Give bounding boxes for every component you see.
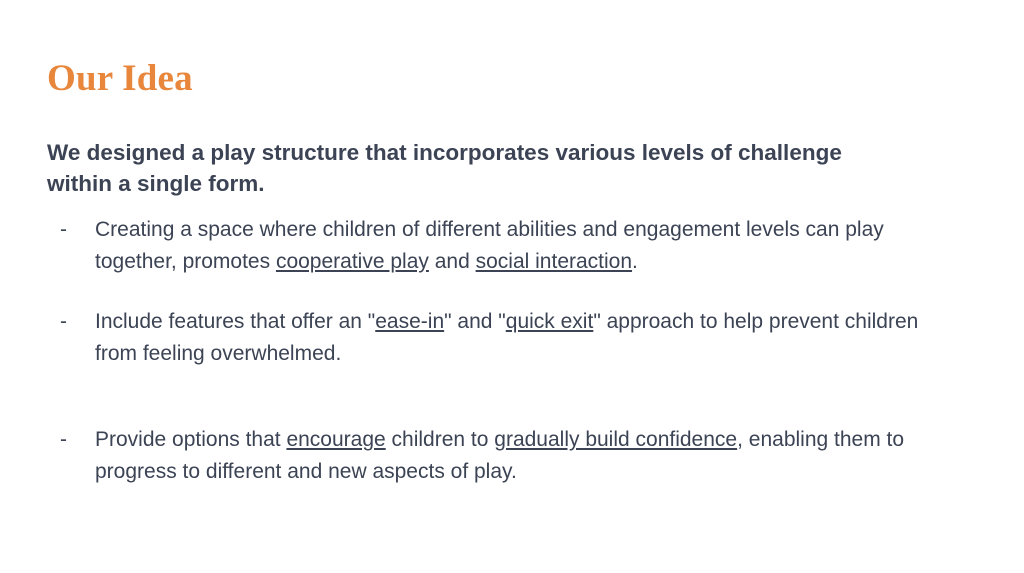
bullet-text-run: Include features that offer an " <box>95 310 375 333</box>
bullet-dash-icon: - <box>47 424 95 456</box>
bullet-text-run: " and " <box>444 310 506 333</box>
bullet-ease-in-quick-exit: Include features that offer an "ease-in"… <box>95 306 940 369</box>
bullet-text-run: and <box>429 250 476 273</box>
page-title: Our Idea <box>47 57 193 101</box>
bullet-list: -Creating a space where children of diff… <box>47 214 967 487</box>
emphasis-underlined-text: gradually build confidence <box>494 428 737 451</box>
emphasis-underlined-text: social interaction <box>476 250 632 273</box>
emphasis-underlined-text: ease-in <box>375 310 444 333</box>
bullet-text-run: children to <box>386 428 495 451</box>
list-item: -Creating a space where children of diff… <box>47 214 967 277</box>
emphasis-underlined-text: quick exit <box>506 310 594 333</box>
slide-canvas: Our Idea We designed a play structure th… <box>0 0 1024 573</box>
bullet-text-run: . <box>632 250 638 273</box>
bullet-cooperative-play: Creating a space where children of diffe… <box>95 214 940 277</box>
bullet-build-confidence: Provide options that encourage children … <box>95 424 940 487</box>
bullet-text-run: Provide options that <box>95 428 286 451</box>
list-item: -Provide options that encourage children… <box>47 424 967 487</box>
emphasis-underlined-text: cooperative play <box>276 250 429 273</box>
emphasis-underlined-text: encourage <box>286 428 385 451</box>
bullet-dash-icon: - <box>47 214 95 246</box>
bullet-dash-icon: - <box>47 306 95 338</box>
list-item: -Include features that offer an "ease-in… <box>47 306 967 369</box>
intro-paragraph: We designed a play structure that incorp… <box>47 137 847 199</box>
